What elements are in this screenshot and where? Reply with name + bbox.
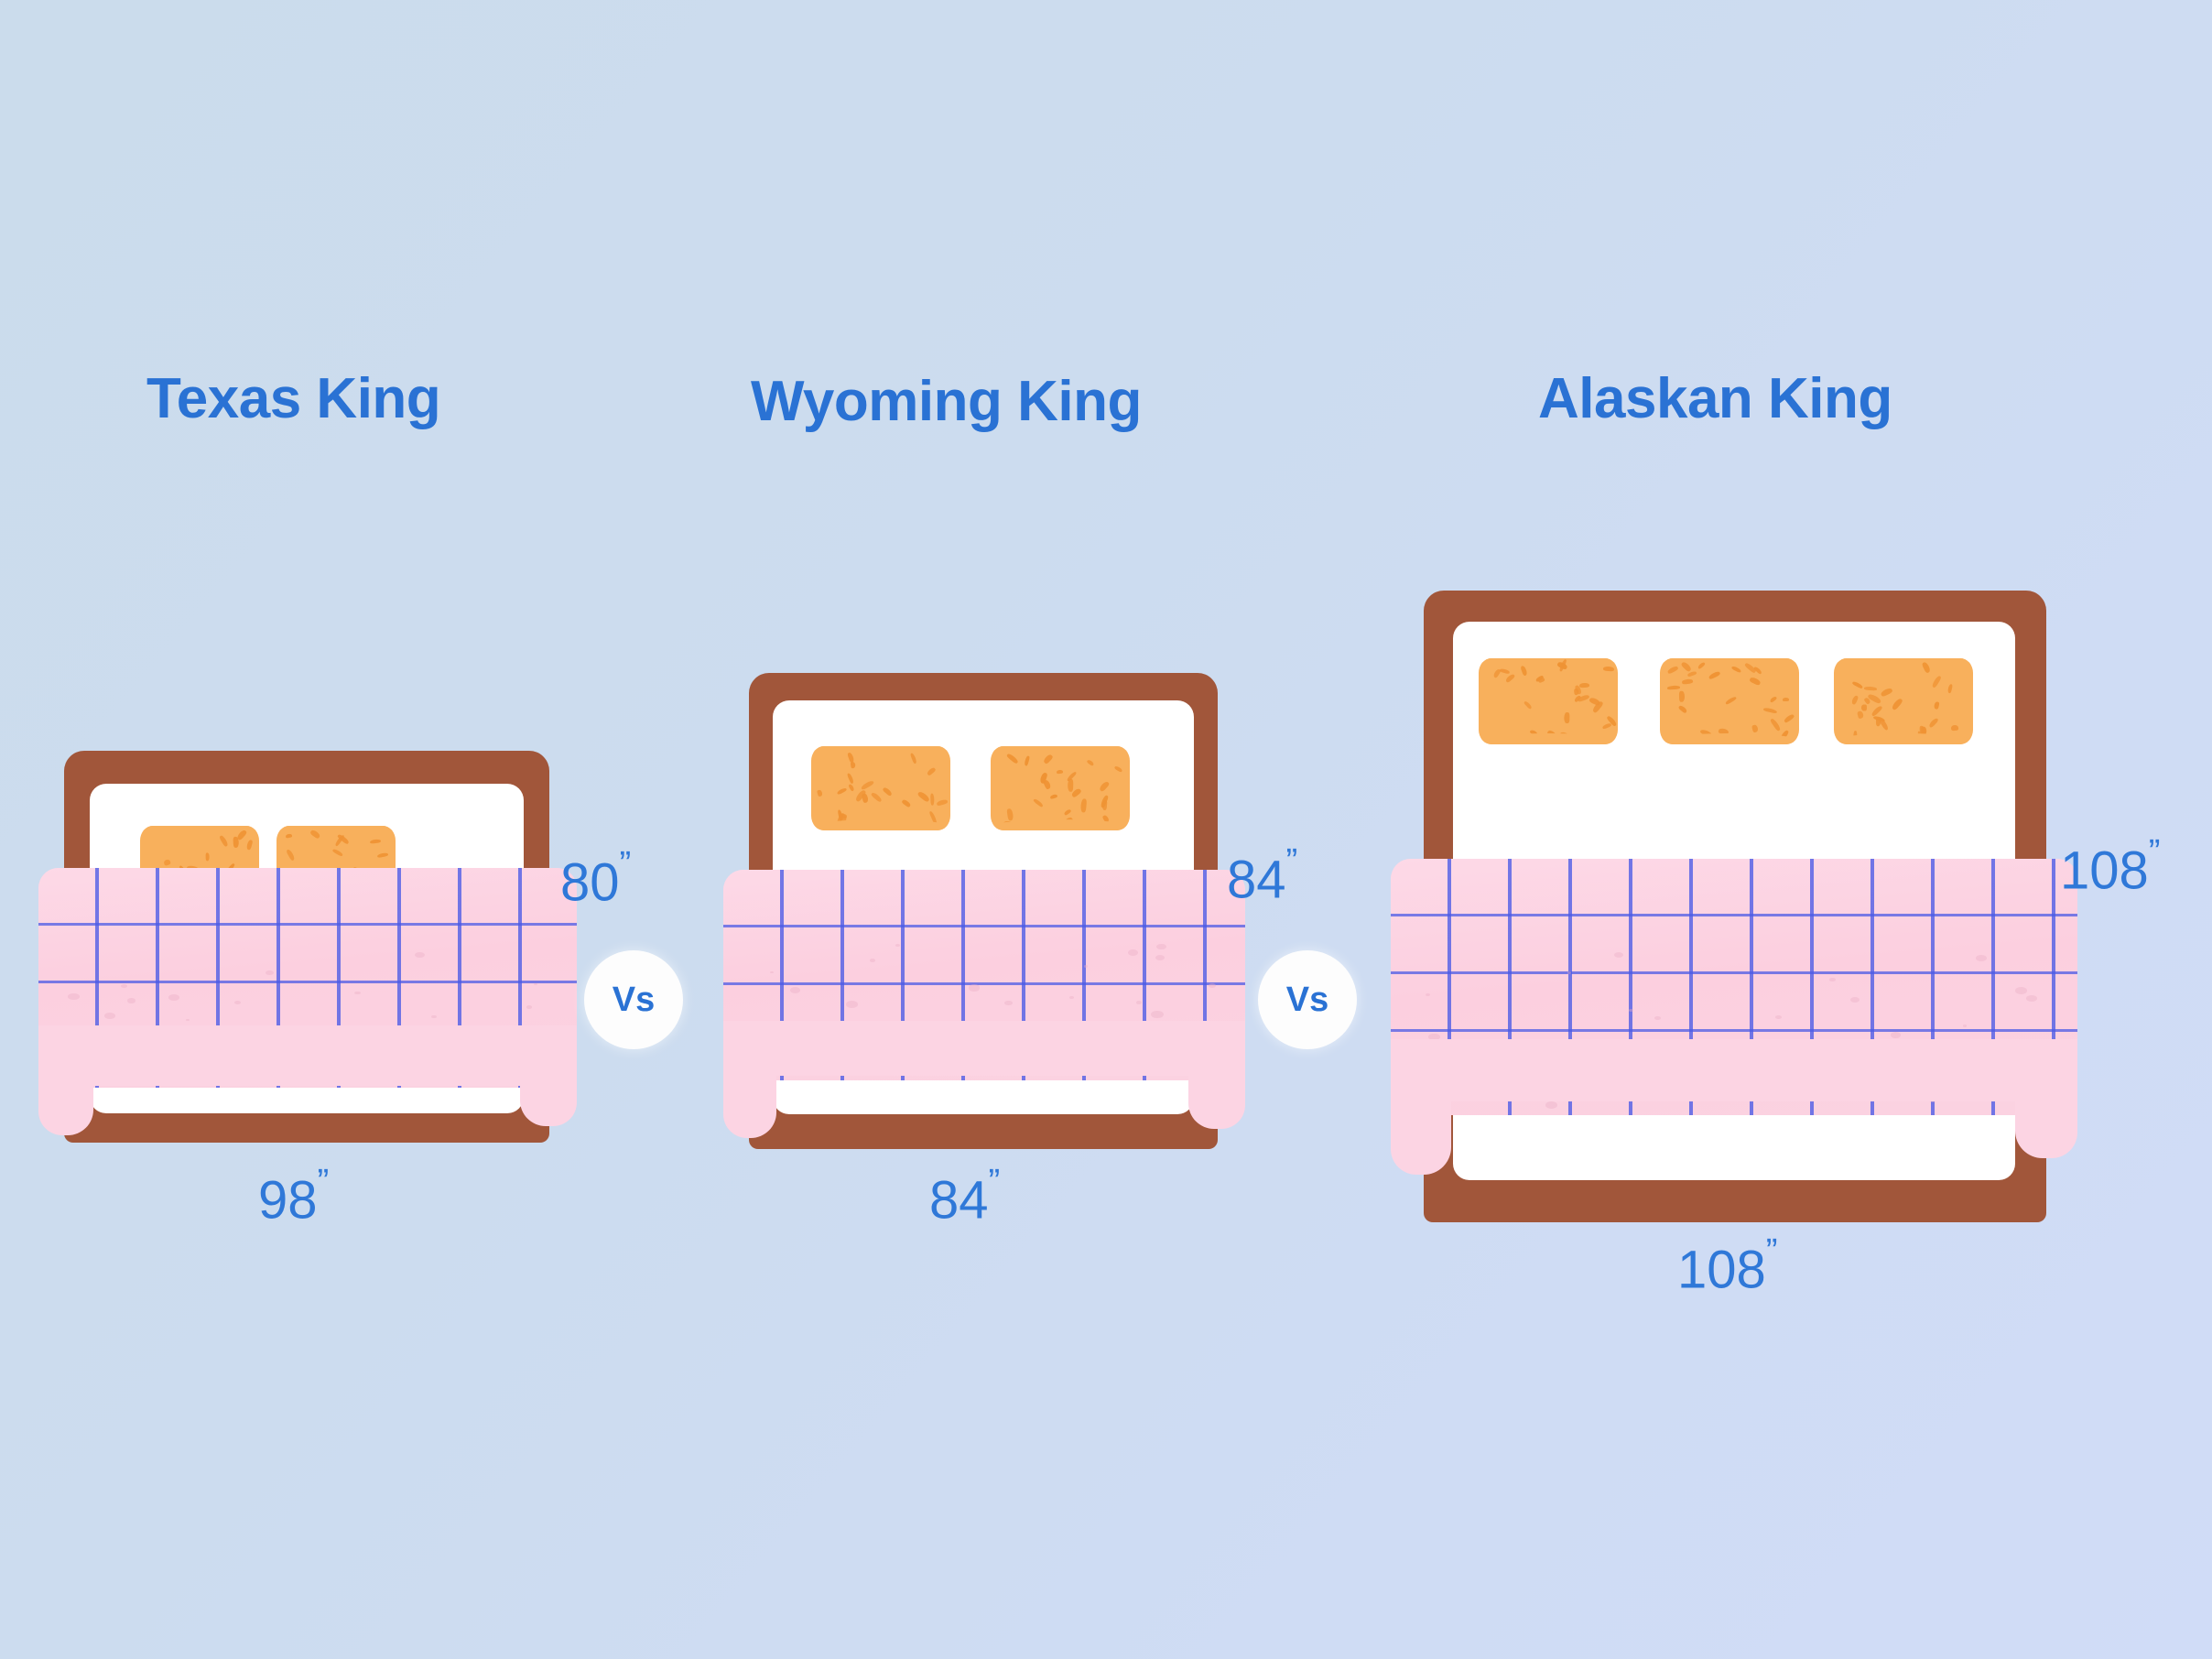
pillow-speck (848, 783, 854, 791)
pillow-speck (1699, 729, 1712, 737)
pillow-speck (1114, 765, 1123, 774)
pillow-speck (1858, 710, 1865, 720)
pillow-speck (1922, 662, 1932, 674)
blanket-fleck (168, 994, 179, 1001)
bed-illustration-alaskan-king (1424, 591, 2046, 1222)
pillow-speck (909, 753, 916, 764)
blanket-fleck (1155, 955, 1166, 960)
blanket-fleck (2015, 987, 2027, 994)
blanket-drape-bottom (723, 1021, 1245, 1076)
pillow-speck (1003, 820, 1014, 827)
pillow-speck (930, 794, 934, 806)
pillow-speck (164, 859, 171, 865)
pillow-speck (1753, 667, 1762, 676)
pillow-speck (1784, 712, 1795, 722)
blanket-fleck (104, 1013, 115, 1019)
pillow-speck (236, 829, 247, 841)
dimension-height-wyoming-king: 84” (1227, 844, 1296, 907)
pillow-speck (1725, 695, 1737, 704)
pillow-speck (1579, 682, 1589, 687)
blanket-fleck (1545, 1101, 1557, 1109)
vs-badge-texas-wyoming: Vs (584, 950, 683, 1049)
pillow-speck (286, 849, 296, 861)
blanket-fleck (534, 983, 537, 985)
pillow-speck (1870, 704, 1883, 716)
pillow-speck (1851, 681, 1862, 689)
pillow-speck (1770, 718, 1781, 732)
pillow-speck (1921, 726, 1926, 734)
pillow-speck (1891, 697, 1903, 710)
pillow-speck (1762, 707, 1776, 713)
pillow-speck (1928, 718, 1939, 729)
dimension-width-texas-king: 98” (258, 1165, 328, 1228)
pillow-speck (1546, 729, 1557, 739)
pillow-speck (1749, 676, 1762, 685)
bed-title-alaskan-king: Alaskan King (1538, 371, 1892, 428)
pillow-speck (332, 848, 343, 856)
pillow-speck (1006, 753, 1019, 764)
pillow-speck (1667, 685, 1680, 689)
pillow-speck (882, 819, 893, 827)
blanket-fleck (1976, 955, 1987, 961)
pillow-speck (1861, 704, 1867, 710)
vs-badge-wyoming-alaskan: Vs (1258, 950, 1357, 1049)
blanket-fleck (1850, 997, 1860, 1003)
bed-title-texas-king: Texas King (146, 371, 440, 428)
pillow-speck (916, 790, 929, 802)
pillow-speck (206, 852, 210, 861)
pillow-speck (937, 798, 949, 806)
blanket-fleck (1151, 1011, 1164, 1018)
pillow-speck (376, 852, 388, 858)
blanket-fleck (431, 1015, 437, 1019)
pillow-speck (1559, 732, 1568, 738)
blanket-fleck (68, 993, 80, 1001)
pillow-speck (901, 798, 911, 808)
blanket-fleck (1891, 1032, 1901, 1037)
pillow (1660, 658, 1799, 744)
pillow-speck (370, 839, 381, 843)
pillow (811, 746, 950, 830)
pillow-speck (1520, 665, 1528, 676)
blanket-fleck (2026, 995, 2037, 1002)
pillow-speck (1102, 814, 1110, 822)
blanket-fleck (1614, 952, 1623, 958)
pillow-speck (1682, 678, 1693, 684)
pillow-speck (1880, 688, 1892, 698)
pillow-speck (1719, 727, 1729, 734)
pillow-speck (1523, 700, 1533, 710)
blanket-fleck (1654, 1016, 1661, 1020)
blanket-drape-bottom (38, 1025, 577, 1086)
pillow-speck (309, 829, 320, 839)
pillow-speck (1708, 670, 1720, 679)
pillow-speck (1063, 808, 1071, 816)
blanket-fleck (1136, 1001, 1142, 1004)
pillow-speck (1770, 696, 1778, 703)
dimension-height-alaskan-king: 108” (2060, 835, 2160, 898)
pillow (1834, 658, 1973, 744)
pillow-speck (1853, 731, 1857, 743)
pillow-speck (1043, 754, 1054, 764)
pillow-speck (1087, 759, 1095, 766)
pillow (1479, 658, 1618, 744)
pillow-speck (1529, 730, 1537, 736)
pillow-speck (1537, 677, 1545, 683)
pillow-speck (840, 812, 847, 821)
blanket-fleck (266, 970, 274, 976)
pillow-speck (1099, 781, 1110, 792)
bed-illustration-wyoming-king (749, 673, 1218, 1149)
pillow-speck (1057, 769, 1064, 774)
dimension-width-wyoming-king: 84” (929, 1165, 999, 1228)
blanket-fleck (127, 998, 136, 1003)
pillow-speck (219, 835, 229, 848)
blanket-fleck (790, 987, 801, 993)
blanket-fleck (870, 959, 875, 962)
pillow-speck (1851, 695, 1860, 705)
pillow-speck (1687, 671, 1697, 678)
pillow-speck (1779, 730, 1789, 742)
bed-title-wyoming-king: Wyoming King (751, 374, 1142, 430)
pillow-speck (1007, 808, 1014, 821)
pillow-speck (1947, 683, 1953, 693)
pillow-speck (1500, 668, 1510, 674)
pillow-speck (1931, 675, 1942, 689)
pillow-speck (871, 791, 883, 802)
blanket-fleck (1128, 949, 1139, 956)
blanket-fleck (186, 1019, 190, 1022)
pillow-speck (1049, 794, 1057, 800)
pillow-speck (1100, 795, 1108, 808)
pillow-speck (285, 833, 292, 838)
pillow-speck (1067, 818, 1077, 827)
pillow-speck (1679, 691, 1685, 702)
pillow-speck (1864, 686, 1877, 690)
pillow-speck (1024, 755, 1030, 766)
pillow-speck (1751, 724, 1758, 732)
pillow-speck (1062, 816, 1074, 827)
blanket-fleck (526, 1005, 532, 1009)
pillow-speck (1951, 725, 1958, 731)
blanket-fleck (1775, 1015, 1782, 1019)
blanket-fleck (770, 971, 774, 973)
blanket-fleck (121, 984, 127, 988)
pillow-speck (929, 811, 938, 825)
pillow-speck (847, 773, 854, 784)
blanket-fleck (1963, 1025, 1968, 1027)
pillow-speck (1080, 799, 1087, 813)
pillow-speck (1666, 666, 1678, 675)
bed-illustration-texas-king (64, 751, 549, 1143)
blanket-fleck (1084, 965, 1089, 968)
pillow-speck (1697, 662, 1706, 670)
infographic-canvas: Texas King 80” 98” Vs Wyoming King (0, 0, 2212, 1659)
blanket-drape-bottom (1391, 1039, 2077, 1101)
blanket-fleck (1004, 1001, 1013, 1006)
pillow-speck (1565, 711, 1570, 722)
pillow-speck (1602, 722, 1612, 729)
pillow-speck (1730, 665, 1741, 673)
blanket-fleck (1156, 944, 1166, 949)
blanket-fleck (895, 944, 901, 947)
blanket-fleck (1629, 1009, 1633, 1012)
blanket-fleck (1567, 971, 1571, 973)
pillow-speck (817, 789, 823, 797)
pillow-speck (1680, 661, 1691, 672)
blanket-fleck (1069, 996, 1074, 999)
pillow-speck (1033, 797, 1044, 808)
blanket-fleck (1829, 978, 1835, 981)
pillow-speck (1783, 697, 1789, 700)
pillow-speck (1505, 673, 1516, 684)
pillow-speck (837, 787, 848, 796)
pillow-speck (883, 786, 893, 796)
blanket-fleck (415, 952, 425, 959)
blanket-fleck (1209, 983, 1216, 988)
dimension-height-texas-king: 80” (560, 847, 630, 910)
blanket-fleck (969, 984, 980, 991)
pillow-speck (246, 840, 254, 851)
pillow-speck (926, 766, 936, 775)
blanket-fleck (354, 992, 361, 995)
pillow-speck (1677, 705, 1687, 714)
blanket-fleck (846, 1001, 859, 1008)
dimension-width-alaskan-king: 108” (1677, 1234, 1777, 1297)
blanket-fleck (1426, 993, 1431, 996)
pillow (991, 746, 1130, 830)
pillow-speck (1934, 700, 1939, 709)
pillow-speck (1603, 667, 1614, 672)
pillow-speck (861, 779, 874, 790)
blanket-fleck (234, 1001, 241, 1004)
